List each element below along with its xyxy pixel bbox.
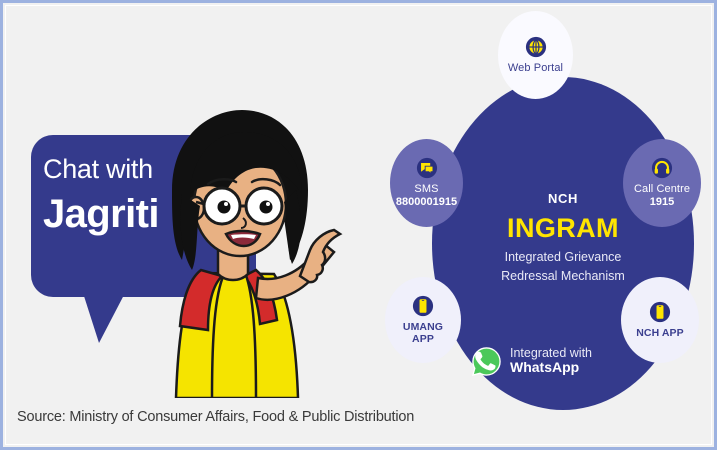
- node-call-centre-label: Call Centre: [634, 183, 690, 196]
- headset-icon: [651, 157, 673, 179]
- message-icon: [416, 157, 438, 179]
- source-caption: Source: Ministry of Consumer Affairs, Fo…: [17, 409, 414, 425]
- node-web-portal-label: Web Portal: [508, 62, 563, 75]
- infographic-frame: Chat with Jagriti: [0, 0, 717, 450]
- node-umang-app-label: UMANG: [403, 321, 443, 333]
- mobile-phone-icon: [412, 295, 434, 317]
- whatsapp-line-2: WhatsApp: [510, 360, 592, 376]
- node-web-portal[interactable]: Web Portal: [498, 11, 573, 99]
- node-nch-app[interactable]: NCH APP: [621, 277, 699, 363]
- ingram-diagram: NCH INGRAM Integrated Grievance Redressa…: [371, 5, 717, 425]
- node-call-centre[interactable]: Call Centre 1915: [623, 139, 701, 227]
- mascot-body: [176, 248, 298, 398]
- whatsapp-text: Integrated with WhatsApp: [510, 346, 592, 376]
- node-sms-number: 8800001915: [396, 196, 457, 209]
- globe-icon: [525, 36, 547, 58]
- mascot-head: [172, 110, 308, 270]
- whatsapp-integration: Integrated with WhatsApp: [471, 340, 646, 382]
- node-umang-app-sub: APP: [412, 333, 434, 345]
- node-sms[interactable]: SMS 8800001915: [390, 139, 463, 227]
- node-sms-label: SMS: [414, 183, 438, 196]
- speech-bubble-tail: [83, 293, 125, 343]
- node-nch-app-label: NCH APP: [636, 327, 684, 339]
- mobile-phone-icon: [649, 301, 671, 323]
- core-subtitle-line-1: Integrated Grievance: [432, 250, 694, 264]
- whatsapp-line-1: Integrated with: [510, 346, 592, 360]
- whatsapp-icon: [471, 346, 502, 377]
- jagriti-mascot-illustration: [138, 98, 348, 398]
- node-call-centre-number: 1915: [650, 196, 674, 209]
- chat-with-jagriti-panel: Chat with Jagriti: [3, 3, 363, 450]
- node-umang-app[interactable]: UMANG APP: [385, 277, 461, 363]
